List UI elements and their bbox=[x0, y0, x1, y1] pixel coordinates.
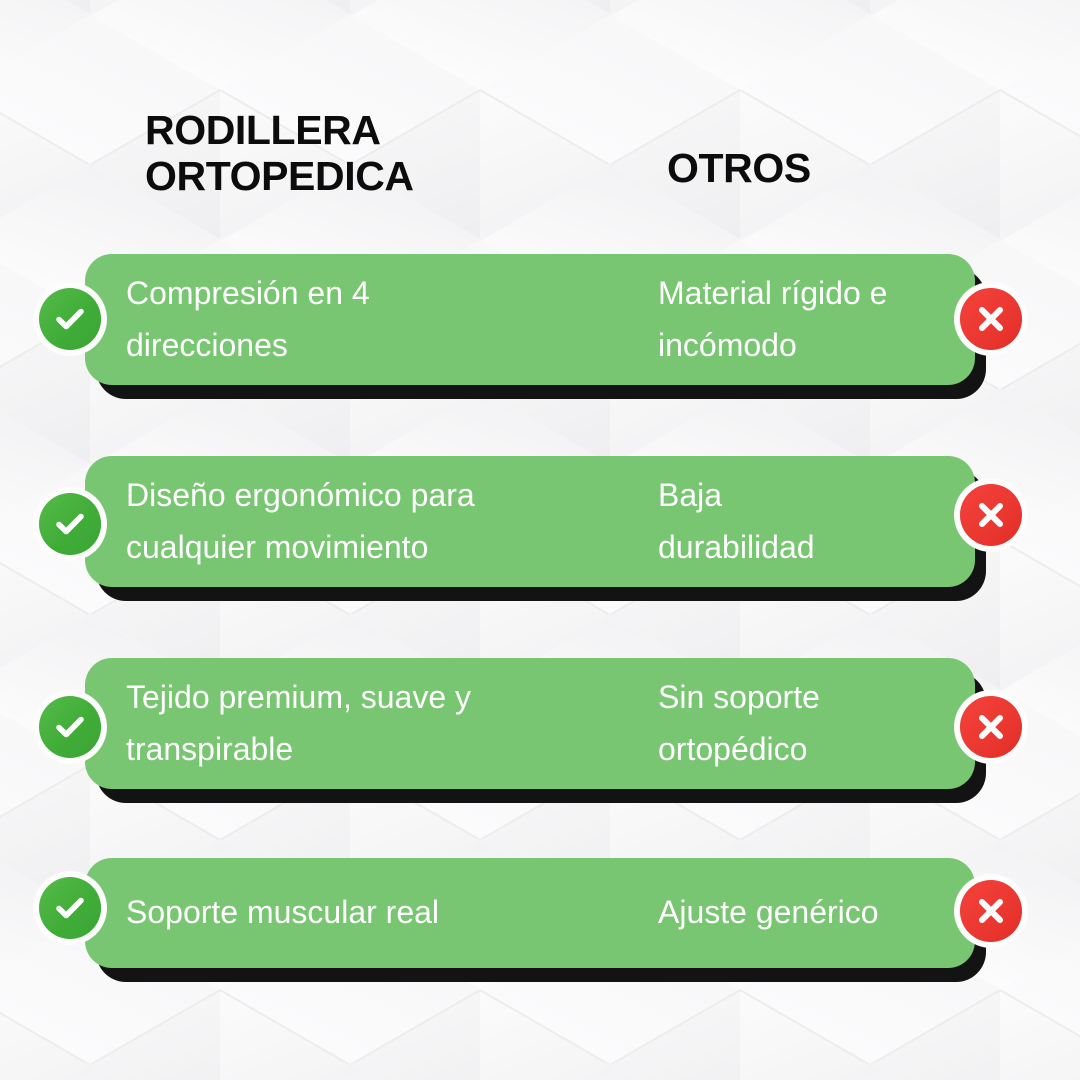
check-circle-icon bbox=[39, 696, 101, 758]
other-feature-text: Sin soporte ortopédico bbox=[658, 658, 988, 789]
product-feature-text: Diseño ergonómico para cualquier movimie… bbox=[126, 456, 586, 587]
comparison-pill: Tejido premium, suave y transpirable Sin… bbox=[85, 658, 975, 789]
x-circle-icon bbox=[960, 484, 1022, 546]
other-feature-text: Baja durabilidad bbox=[658, 456, 988, 587]
other-feature-text: Material rígido e incómodo bbox=[658, 254, 988, 385]
column-header-others: OTROS bbox=[667, 146, 811, 192]
x-circle-icon bbox=[960, 880, 1022, 942]
check-circle-icon bbox=[39, 493, 101, 555]
product-feature-text: Compresión en 4 direcciones bbox=[126, 254, 586, 385]
other-feature-text: Ajuste genérico bbox=[658, 858, 988, 968]
comparison-row: Compresión en 4 direcciones Material ríg… bbox=[0, 254, 1080, 385]
comparison-pill: Diseño ergonómico para cualquier movimie… bbox=[85, 456, 975, 587]
comparison-pill: Compresión en 4 direcciones Material ríg… bbox=[85, 254, 975, 385]
check-circle-icon bbox=[39, 877, 101, 939]
comparison-row: Tejido premium, suave y transpirable Sin… bbox=[0, 658, 1080, 789]
column-header-product: RODILLERA ORTOPEDICA bbox=[145, 108, 575, 200]
product-feature-text: Soporte muscular real bbox=[126, 858, 586, 968]
x-circle-icon bbox=[960, 696, 1022, 758]
product-feature-text: Tejido premium, suave y transpirable bbox=[126, 658, 586, 789]
x-circle-icon bbox=[960, 288, 1022, 350]
check-circle-icon bbox=[39, 288, 101, 350]
comparison-pill: Soporte muscular real Ajuste genérico bbox=[85, 858, 975, 968]
comparison-row: Diseño ergonómico para cualquier movimie… bbox=[0, 456, 1080, 587]
comparison-infographic: RODILLERA ORTOPEDICA OTROS Compresión en… bbox=[0, 0, 1080, 1080]
comparison-row: Soporte muscular real Ajuste genérico bbox=[0, 858, 1080, 968]
